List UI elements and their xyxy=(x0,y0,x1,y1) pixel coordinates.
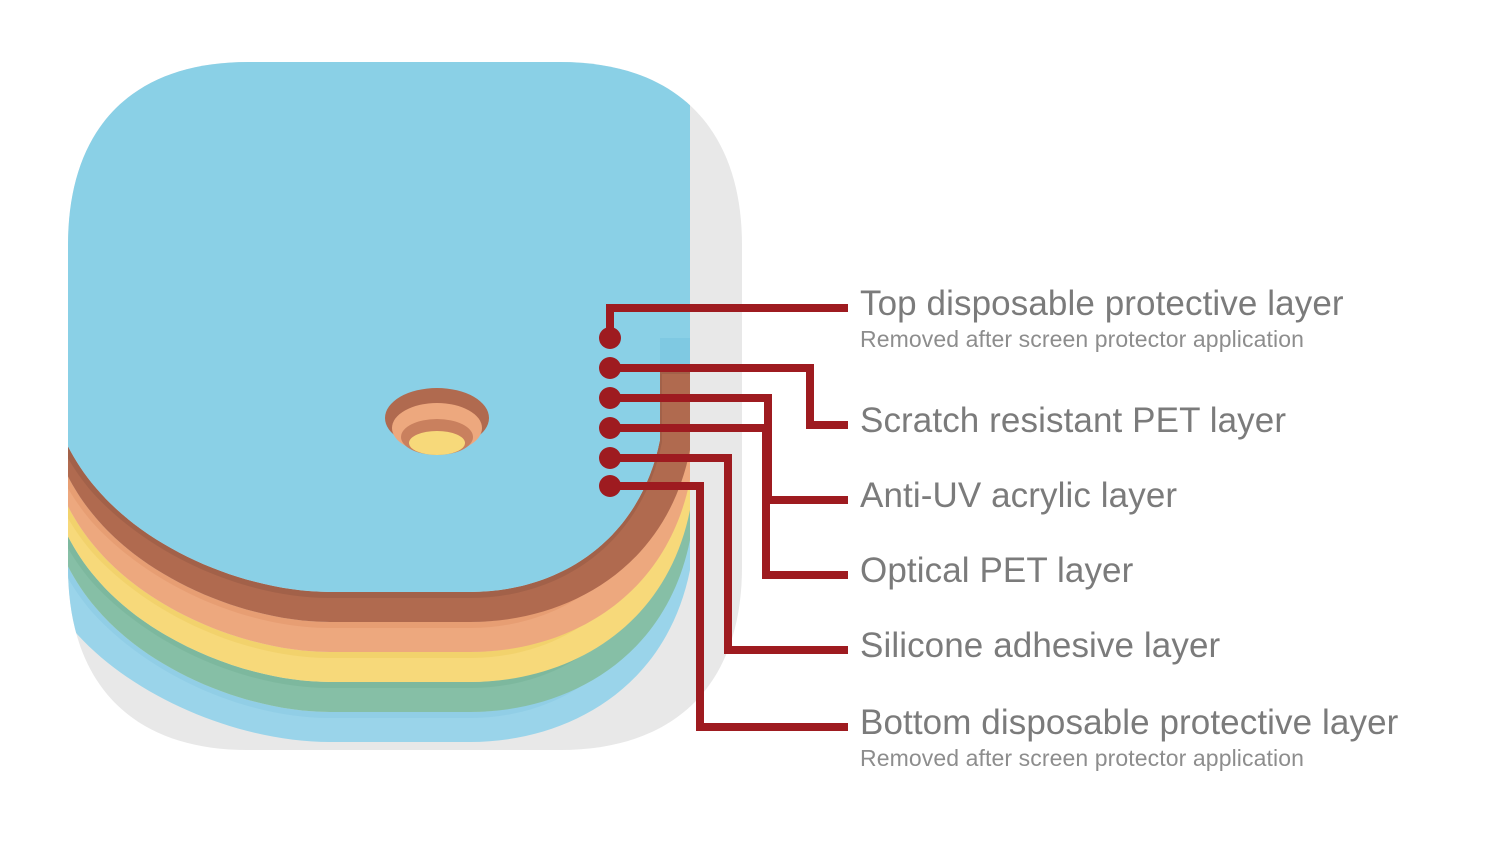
label-title-3: Anti-UV acrylic layer xyxy=(860,478,1177,515)
leader-dot-3 xyxy=(599,387,621,409)
leader-dot-1 xyxy=(599,327,621,349)
leader-dot-6 xyxy=(599,475,621,497)
leader-dot-4 xyxy=(599,417,621,439)
leader-lines-verticals xyxy=(766,398,768,575)
leader-dot-5 xyxy=(599,447,621,469)
label-title-4: Optical PET layer xyxy=(860,553,1133,590)
film-layer-stack xyxy=(0,36,690,742)
diagram-canvas: Top disposable protective layer Removed … xyxy=(0,0,1497,850)
label-title-1: Top disposable protective layer xyxy=(860,286,1344,323)
label-subtitle-6: Removed after screen protector applicati… xyxy=(860,746,1398,772)
label-subtitle-1: Removed after screen protector applicati… xyxy=(860,327,1344,353)
label-top-disposable-protective: Top disposable protective layer Removed … xyxy=(860,286,1344,353)
label-optical-pet: Optical PET layer xyxy=(860,553,1133,590)
label-bottom-disposable-protective: Bottom disposable protective layer Remov… xyxy=(860,705,1398,772)
label-title-2: Scratch resistant PET layer xyxy=(860,403,1286,440)
label-anti-uv-acrylic: Anti-UV acrylic layer xyxy=(860,478,1177,515)
label-scratch-resistant-pet: Scratch resistant PET layer xyxy=(860,403,1286,440)
label-title-6: Bottom disposable protective layer xyxy=(860,705,1398,742)
label-silicone-adhesive: Silicone adhesive layer xyxy=(860,628,1220,665)
leader-dot-2 xyxy=(599,357,621,379)
label-title-5: Silicone adhesive layer xyxy=(860,628,1220,665)
